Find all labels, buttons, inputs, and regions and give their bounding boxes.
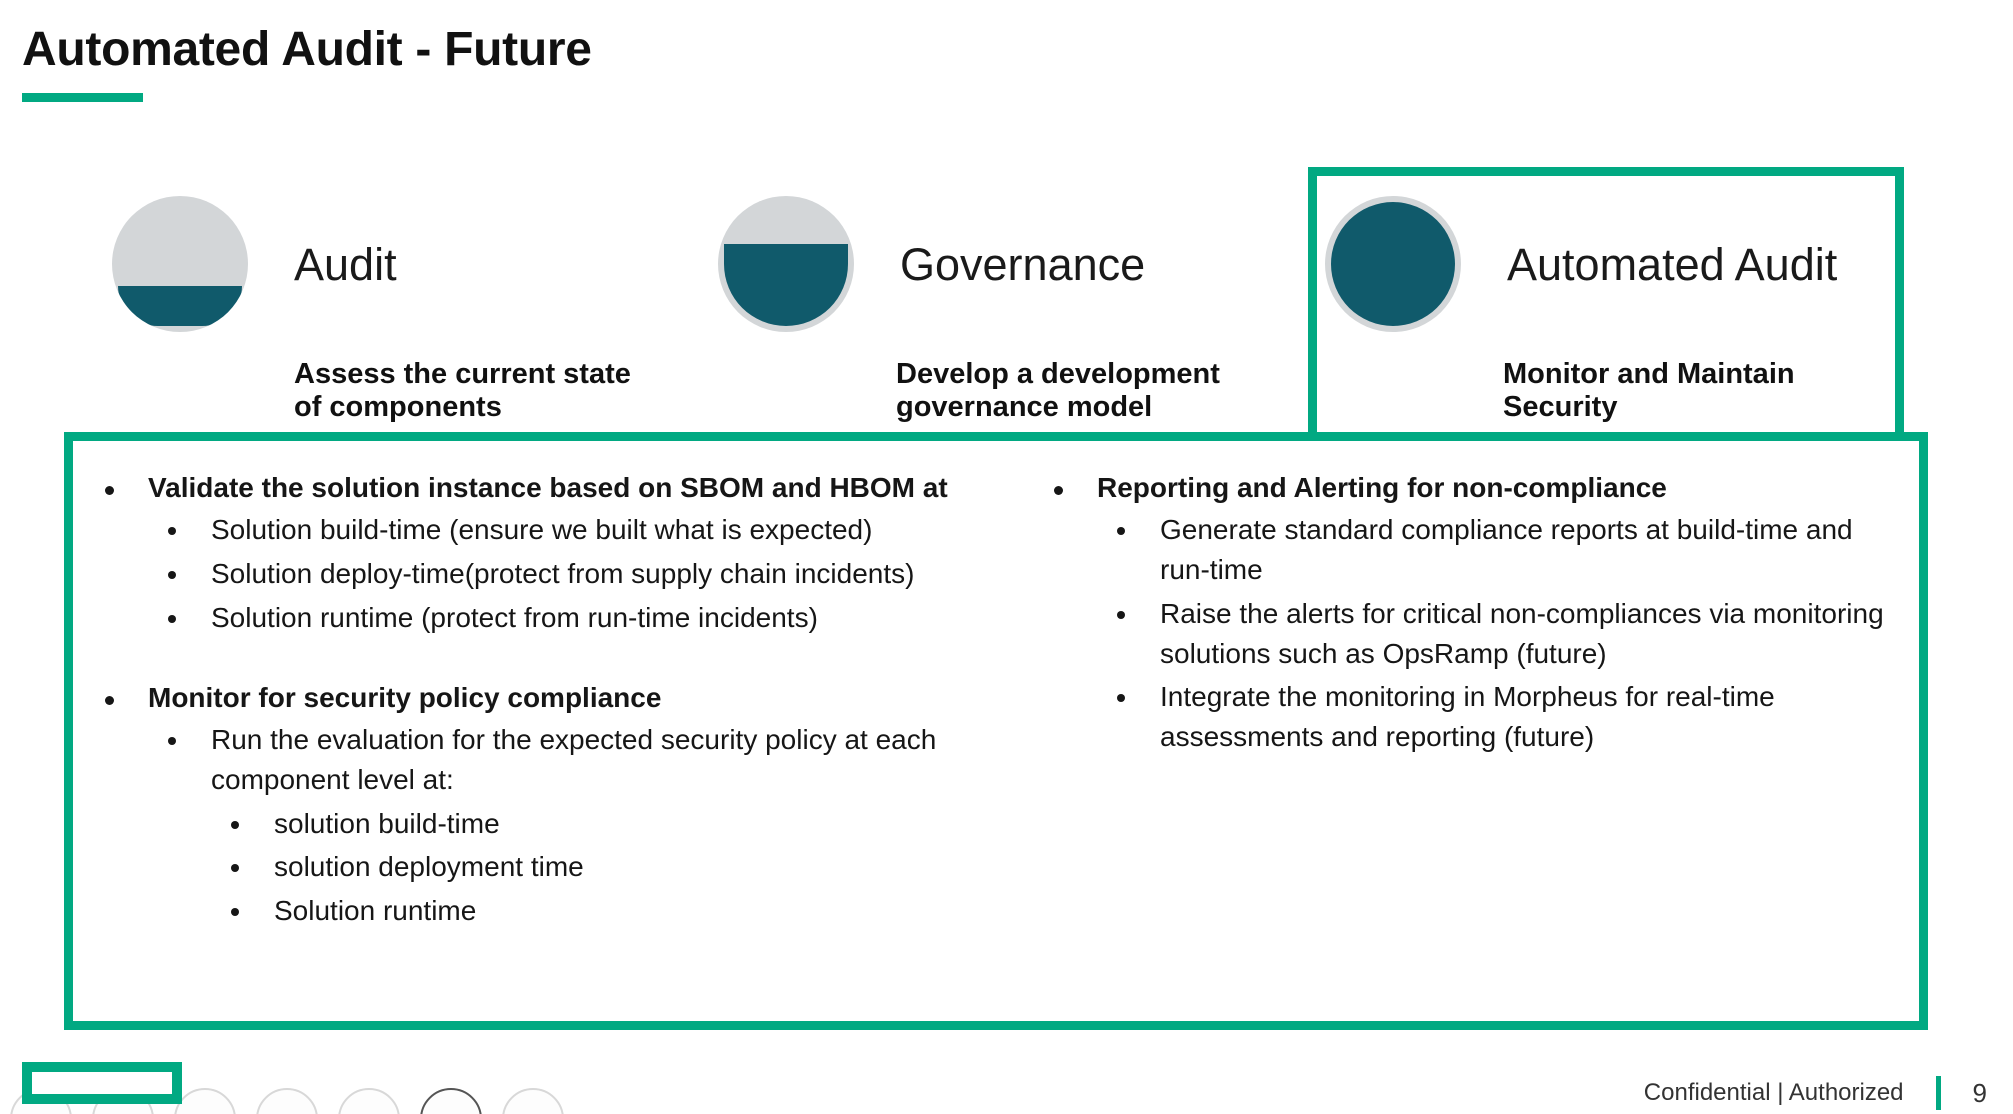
title-accent-rule: [22, 93, 143, 102]
pillar-governance-description-line2: governance model: [896, 391, 1220, 424]
toolbar-circle-icon-7[interactable]: [502, 1088, 564, 1114]
left-group-2-sublist: Run the evaluation for the expected secu…: [84, 720, 986, 931]
toolbar-circle-icon-4[interactable]: [256, 1088, 318, 1114]
pillar-governance-description-line1: Develop a development: [896, 358, 1220, 391]
toolbar-circle-icon-3[interactable]: [174, 1088, 236, 1114]
governance-progress-circle-icon: [718, 196, 854, 332]
footer-page-number: 9: [1973, 1078, 1987, 1109]
pillar-audit-description-line1: Assess the current state: [294, 358, 631, 391]
pillar-governance-label: Governance: [900, 242, 1145, 287]
list-item: solution build-time: [84, 804, 986, 844]
right-bullet-group-1: Reporting and Alerting for non-complianc…: [1033, 470, 1898, 757]
audit-progress-circle-icon: [112, 196, 248, 332]
content-column-left: Validate the solution instance based on …: [84, 470, 996, 1030]
list-item: solution deployment time: [84, 847, 986, 887]
pillar-governance-header: Governance: [718, 196, 1220, 332]
footer-right: Confidential | Authorized 9: [1644, 1076, 1987, 1110]
toolbar-circle-icon-5[interactable]: [338, 1088, 400, 1114]
list-item: Integrate the monitoring in Morpheus for…: [1033, 677, 1898, 757]
content-column-right: Reporting and Alerting for non-complianc…: [996, 470, 1908, 1030]
pillar-audit-description-line2: of components: [294, 391, 631, 424]
pillar-audit: Audit Assess the current state of compon…: [112, 196, 631, 425]
pillar-governance: Governance Develop a development governa…: [718, 196, 1220, 425]
left-bullet-group-1: Validate the solution instance based on …: [84, 470, 986, 638]
toolbar-circle-icon-6[interactable]: [420, 1088, 482, 1114]
footer-confidential-label: Confidential | Authorized: [1644, 1079, 1904, 1107]
audit-circle-fill: [118, 286, 242, 326]
pillar-audit-header: Audit: [112, 196, 631, 332]
left-group-2-subsublist: solution build-time solution deployment …: [84, 804, 986, 931]
bullet-group-spacer: [84, 638, 986, 680]
list-item: Validate the solution instance based on …: [84, 470, 986, 506]
list-item: Raise the alerts for critical non-compli…: [1033, 594, 1898, 674]
slide-canvas: Automated Audit - Future Audit Assess th…: [0, 0, 2013, 1114]
hpe-logo: [22, 1062, 182, 1104]
list-item: Generate standard compliance reports at …: [1033, 510, 1898, 590]
list-item: Solution deploy-time(protect from supply…: [84, 554, 986, 594]
left-group-1-sublist: Solution build-time (ensure we built wha…: [84, 510, 986, 637]
pillar-audit-label: Audit: [294, 242, 397, 287]
right-group-1-sublist: Generate standard compliance reports at …: [1033, 510, 1898, 757]
pillar-governance-description: Develop a development governance model: [896, 358, 1220, 425]
list-item: Run the evaluation for the expected secu…: [84, 720, 986, 800]
list-item: Solution runtime (protect from run-time …: [84, 598, 986, 638]
content-columns: Validate the solution instance based on …: [64, 432, 1928, 1030]
list-item: Solution runtime: [84, 891, 986, 931]
list-item: Monitor for security policy compliance: [84, 680, 986, 716]
governance-circle-fill: [724, 244, 848, 326]
list-item: Reporting and Alerting for non-complianc…: [1033, 470, 1898, 506]
left-bullet-group-2: Monitor for security policy compliance R…: [84, 680, 986, 931]
title-block: Automated Audit - Future: [22, 26, 592, 102]
pillar-audit-description: Assess the current state of components: [294, 358, 631, 425]
page-title: Automated Audit - Future: [22, 26, 592, 74]
list-item: Solution build-time (ensure we built wha…: [84, 510, 986, 550]
footer-separator: [1936, 1076, 1941, 1110]
highlight-box-top: [1308, 167, 1904, 435]
